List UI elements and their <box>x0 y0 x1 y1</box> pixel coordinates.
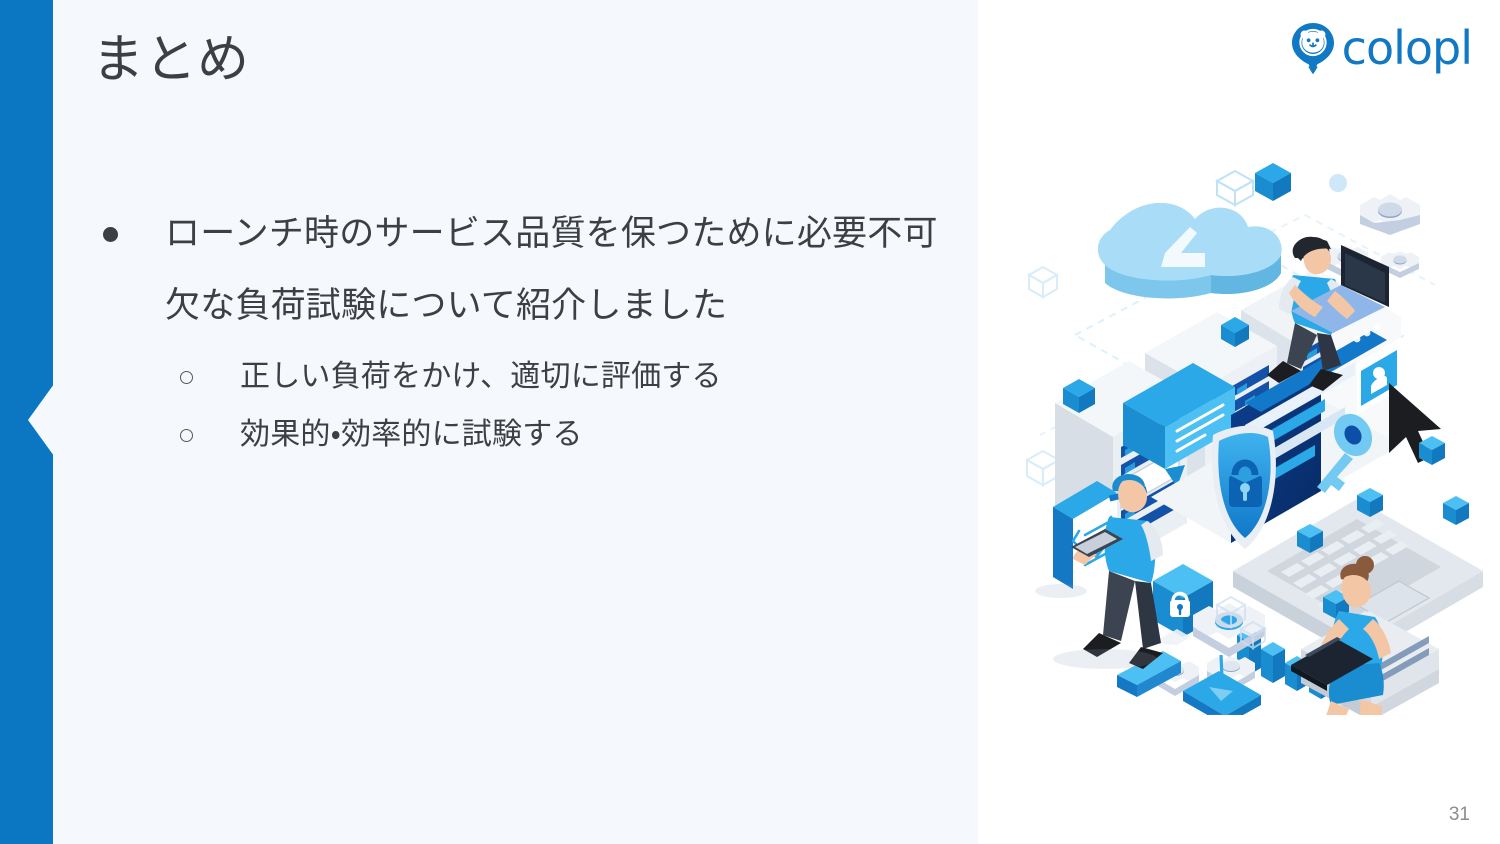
list-item-text: 正しい負荷をかけ、適切に評価する <box>240 360 722 393</box>
list-item-level2: 正しい負荷をかけ、適切に評価する <box>95 348 955 406</box>
bullet-circle-icon <box>180 406 196 464</box>
illustration-canvas <box>1005 135 1495 715</box>
bullet-circle-icon <box>180 348 196 406</box>
isometric-illustration <box>1005 135 1495 715</box>
cloud-icon <box>1098 203 1282 299</box>
colopl-pin-bear-icon <box>1290 22 1336 74</box>
list-item-text: ローンチ時のサービス品質を保つために必要不可欠な負荷試験について紹介しました <box>165 214 938 325</box>
accent-sidebar <box>0 0 53 844</box>
list-item-level2: 効果的・効率的に試験する <box>95 406 955 464</box>
list-item-text: 効果的・効率的に試験する <box>240 418 583 451</box>
sub-list: 正しい負荷をかけ、適切に評価する 効果的・効率的に試験する <box>95 348 955 464</box>
sidebar-notch-marker <box>28 384 54 456</box>
logo-wordmark: colopl <box>1342 25 1472 71</box>
page-number: 31 <box>1449 804 1470 826</box>
bullet-disc-icon <box>103 198 119 270</box>
list-item-level1: ローンチ時のサービス品質を保つために必要不可欠な負荷試験について紹介しました <box>95 198 955 342</box>
brand-logo: colopl <box>1290 22 1472 74</box>
slide: まとめ ローンチ時のサービス品質を保つために必要不可欠な負荷試験について紹介しま… <box>0 0 1500 844</box>
content-body: ローンチ時のサービス品質を保つために必要不可欠な負荷試験について紹介しました 正… <box>95 198 955 464</box>
page-title: まとめ <box>92 28 250 93</box>
floating-cubes-top <box>1217 163 1347 205</box>
floating-cube-outlines-left <box>1027 267 1059 485</box>
